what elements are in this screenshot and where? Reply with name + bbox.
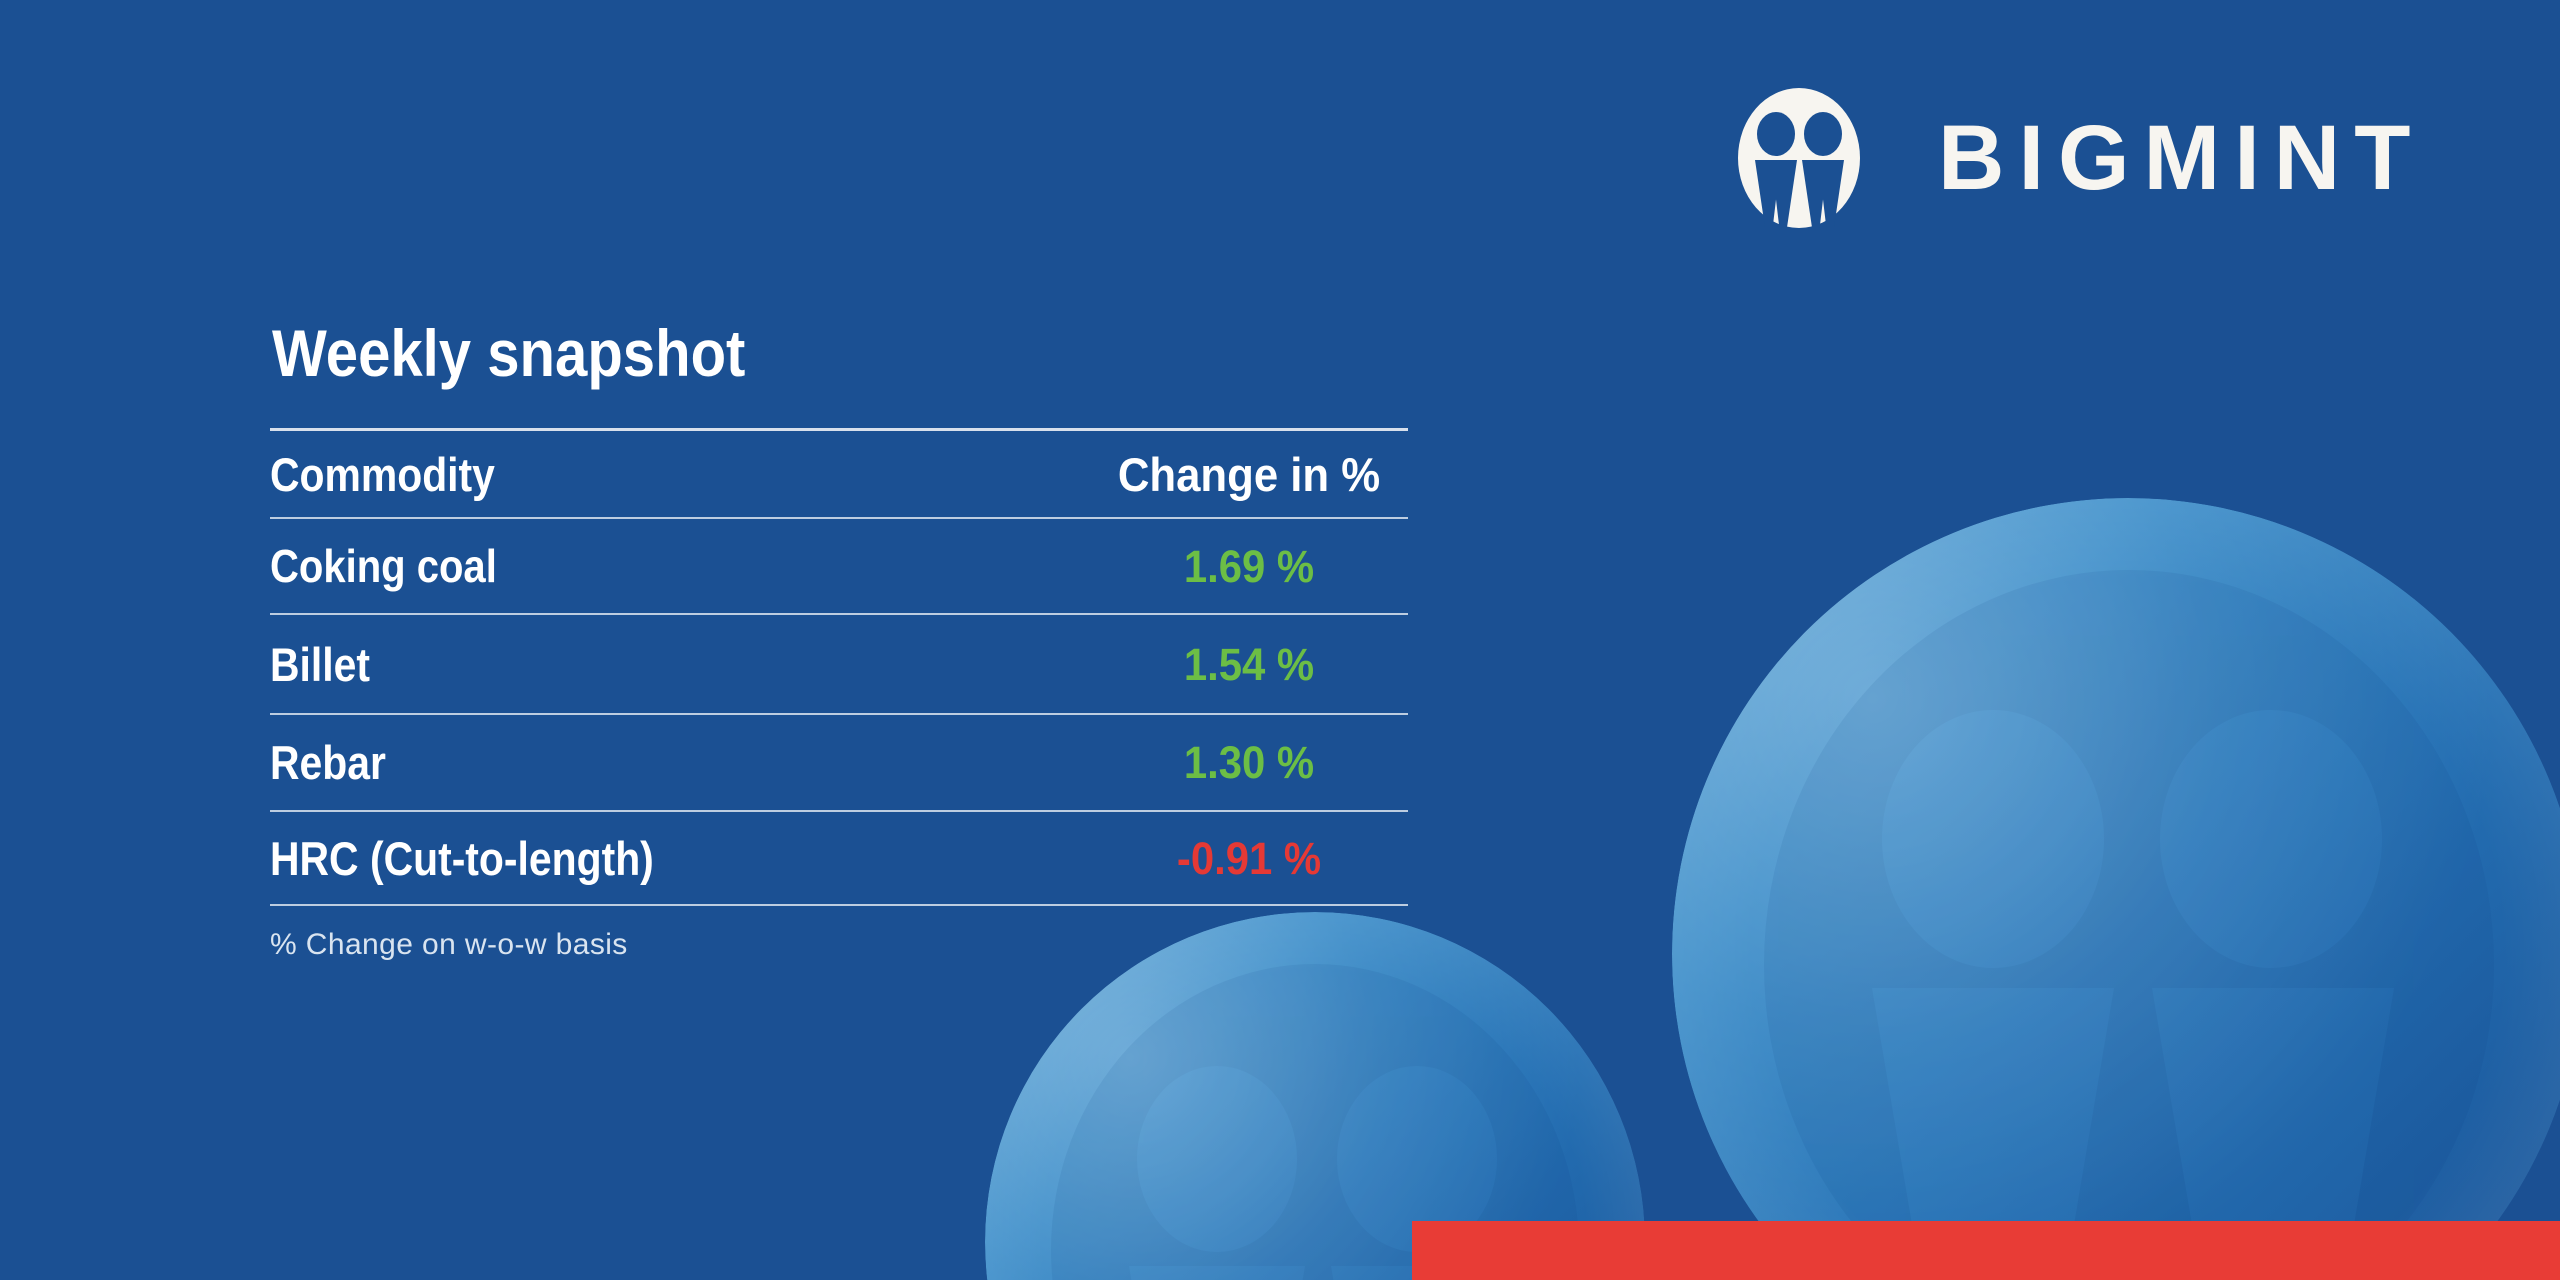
- watermark-head-left: [1882, 710, 2104, 968]
- watermark-oval: [1764, 570, 2494, 1280]
- cell-commodity: Rebar: [270, 739, 983, 786]
- cell-change: 1.69 %: [1101, 544, 1397, 589]
- table-footnote: % Change on w-o-w basis: [270, 930, 1408, 960]
- column-header-change: Change in %: [1101, 451, 1397, 498]
- column-header-commodity: Commodity: [270, 451, 983, 498]
- cell-change: -0.91 %: [1101, 836, 1397, 881]
- cell-commodity: HRC (Cut-to-length): [270, 835, 983, 882]
- sphere-rim-highlight: [1672, 498, 2560, 1280]
- watermark-body-left: [1129, 1266, 1305, 1280]
- page-title: Weekly snapshot: [272, 320, 1272, 386]
- weekly-snapshot-panel: Weekly snapshot Commodity Change in % Co…: [270, 320, 1408, 960]
- table-rule: [270, 517, 1408, 519]
- table-rule: [270, 810, 1408, 812]
- table-rule: [270, 613, 1408, 615]
- logo-watermark: [1764, 570, 2494, 1280]
- watermark-head-left: [1137, 1066, 1297, 1252]
- cell-change: 1.30 %: [1101, 740, 1397, 785]
- logo-head-right: [1804, 112, 1842, 156]
- table-row: Rebar 1.30 %: [270, 715, 1408, 810]
- cell-change: 1.54 %: [1101, 642, 1397, 687]
- accent-bar: [1412, 1221, 2560, 1280]
- logo-head-left: [1757, 112, 1795, 156]
- cell-commodity: Billet: [270, 641, 983, 688]
- brand-wordmark: BIGMINT: [1938, 112, 2424, 204]
- decorative-sphere-large: [1672, 498, 2560, 1280]
- brand-logo: BIGMINT: [1738, 88, 2424, 228]
- table-row: Billet 1.54 %: [270, 615, 1408, 713]
- bigmint-logo-mark-icon: [1738, 88, 1860, 228]
- table-header-row: Commodity Change in %: [270, 431, 1408, 517]
- table-rule-bottom: [270, 904, 1408, 906]
- table-row: Coking coal 1.69 %: [270, 519, 1408, 613]
- sphere-gradient: [1672, 498, 2560, 1280]
- watermark-head-right: [2160, 710, 2382, 968]
- table-rule: [270, 713, 1408, 715]
- logo-oval: [1738, 88, 1860, 228]
- cell-commodity: Coking coal: [270, 543, 983, 589]
- table-rule-top: [270, 428, 1408, 431]
- table-row: HRC (Cut-to-length) -0.91 %: [270, 812, 1408, 904]
